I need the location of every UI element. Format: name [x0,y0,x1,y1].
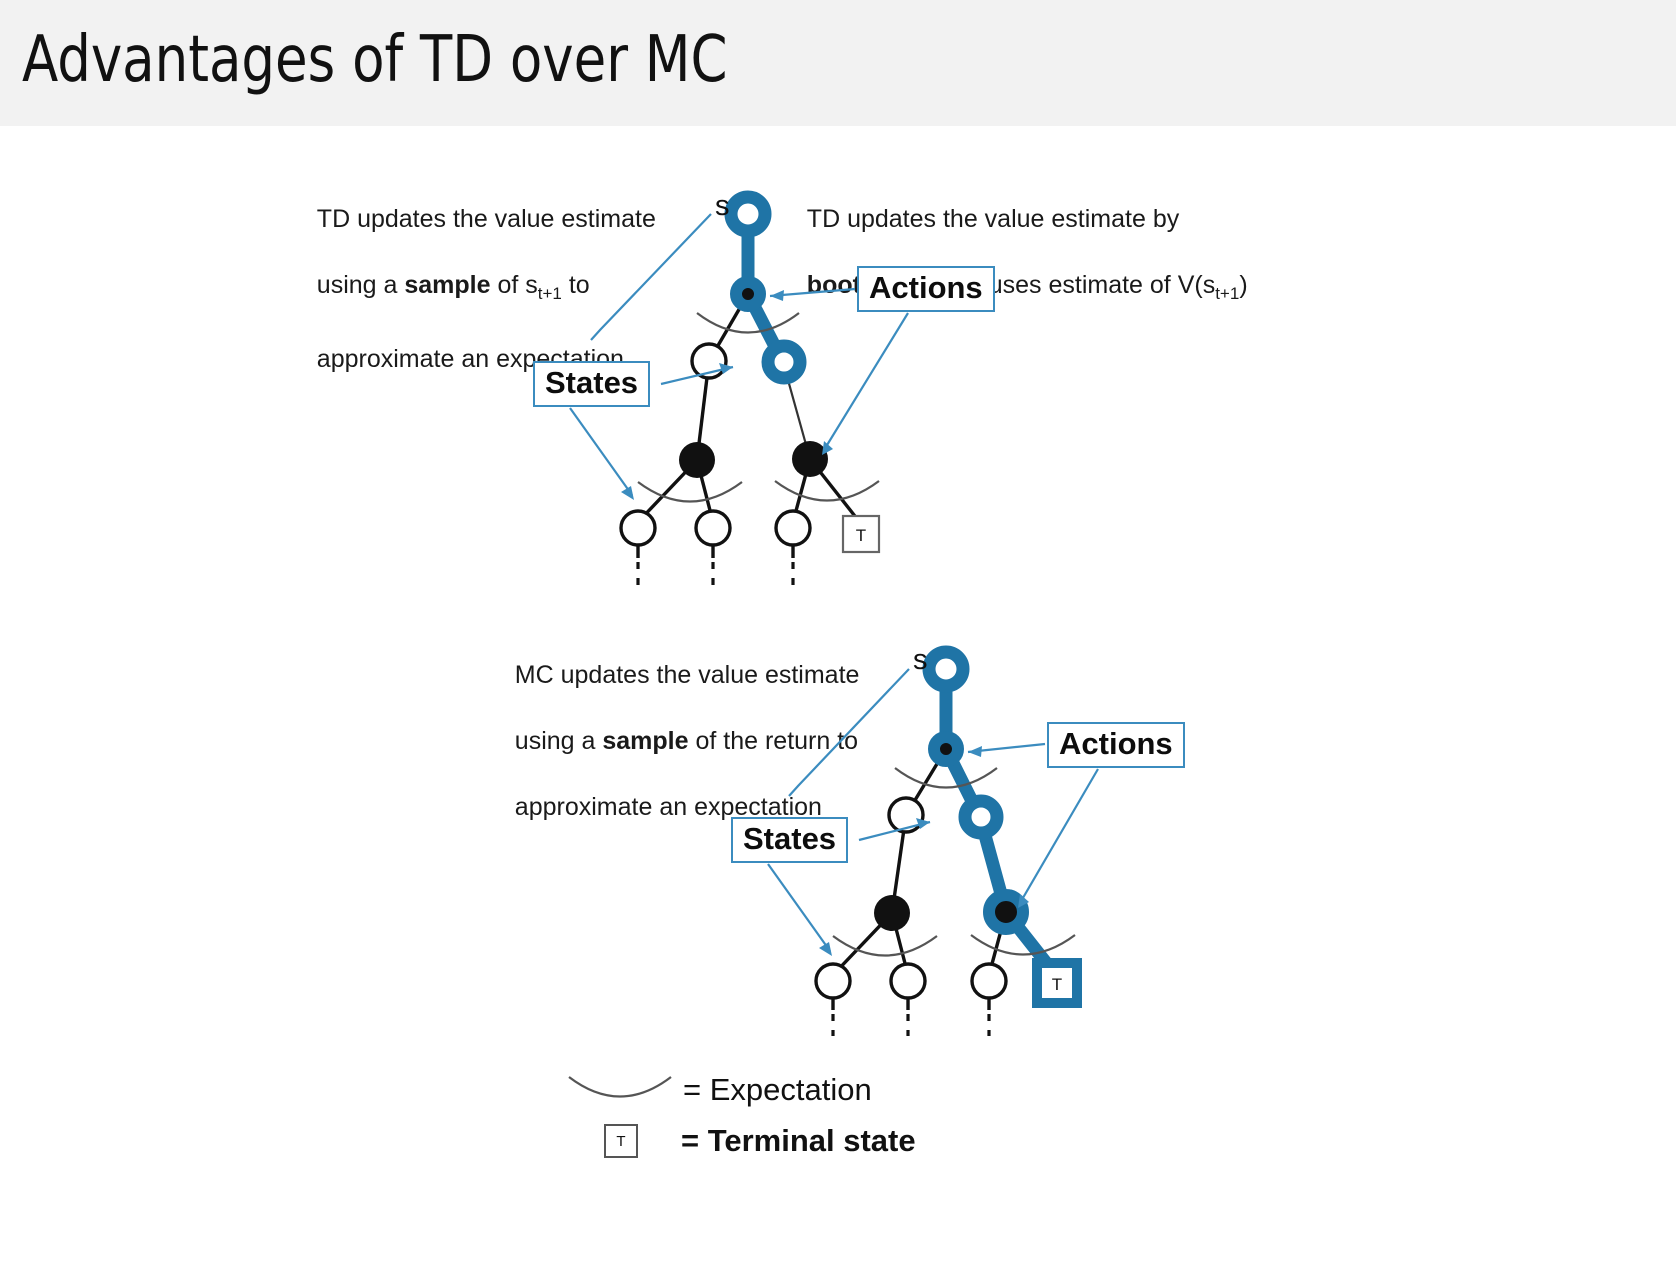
legend-terminal-label: = Terminal state [681,1123,916,1159]
legend-expectation-row: = Expectation [683,1072,872,1108]
legend-terminal-icon: T [604,1124,638,1158]
legend-terminal-row: T = Terminal state [604,1123,916,1159]
slide-canvas: Advantages of TD over MC TD updates the … [0,0,1676,1270]
legend-expectation-label: = Expectation [683,1072,872,1108]
expectation-arc-icon [569,1077,671,1097]
